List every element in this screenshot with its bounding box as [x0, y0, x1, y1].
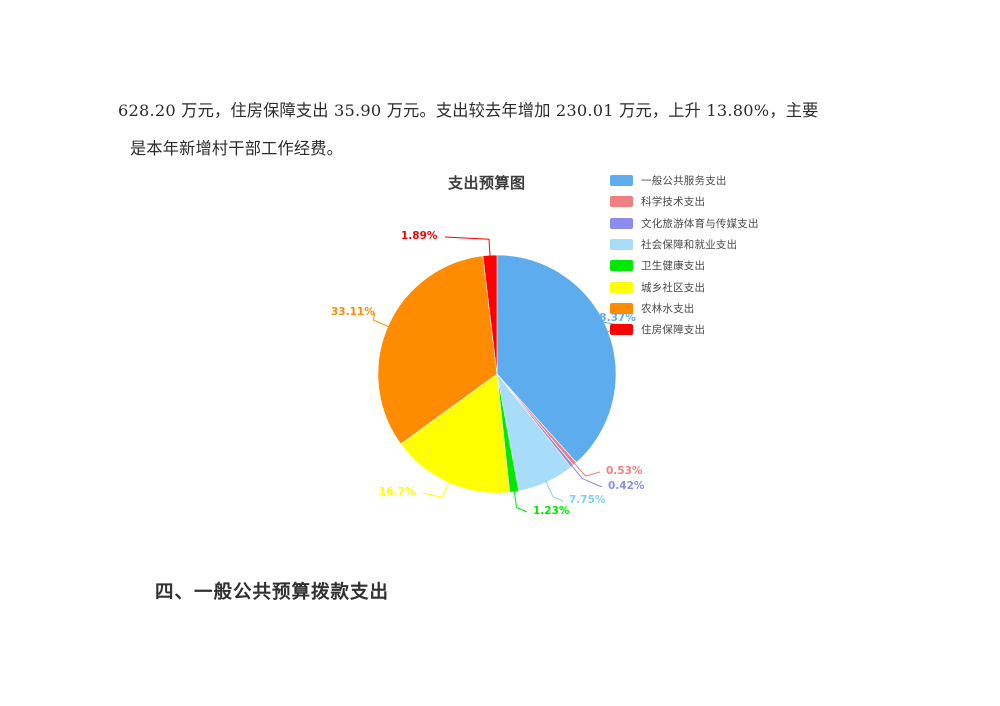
pie-value-label-2: 0.42%: [608, 480, 644, 492]
legend-label-7: 住房保障支出: [641, 322, 705, 337]
pie-value-label-6: 33.11%: [331, 306, 375, 318]
legend-swatch-icon-0: [610, 175, 633, 186]
legend-item-2[interactable]: 文化旅游体育与传媒支出: [610, 213, 800, 234]
legend-item-5[interactable]: 城乡社区支出: [610, 276, 800, 297]
pie-leader-line-6: [373, 313, 390, 327]
legend-swatch-icon-5: [610, 282, 633, 293]
paragraph-line-1: 628.20 万元，住房保障支出 35.90 万元。支出较去年增加 230.01…: [118, 92, 882, 130]
legend-label-1: 科学技术支出: [641, 194, 705, 209]
pie-leader-line-3: [546, 481, 564, 502]
legend-item-0[interactable]: 一般公共服务支出: [610, 170, 800, 191]
pie-leader-line-1: [574, 462, 600, 476]
legend-item-3[interactable]: 社会保障和就业支出: [610, 234, 800, 255]
legend-label-3: 社会保障和就业支出: [641, 237, 737, 252]
pie-value-label-4: 1.23%: [533, 505, 569, 517]
legend-label-6: 农林水支出: [641, 301, 695, 316]
pie-leader-line-4: [514, 490, 527, 512]
legend-swatch-icon-2: [610, 218, 633, 229]
pie-value-label-7: 1.89%: [401, 230, 437, 242]
legend-swatch-icon-7: [610, 324, 633, 335]
pie-value-label-3: 7.75%: [569, 494, 605, 506]
section-heading: 四、一般公共预算拨款支出: [155, 578, 389, 604]
legend-swatch-icon-1: [610, 196, 633, 207]
pie-leader-line-5: [423, 481, 450, 498]
legend-item-1[interactable]: 科学技术支出: [610, 191, 800, 212]
legend-item-6[interactable]: 农林水支出: [610, 298, 800, 319]
expenditure-pie-chart: 支出预算图 一般公共服务支出 科学技术支出 文化旅游体育与传媒支出: [330, 160, 800, 540]
pie-leader-line-7: [445, 237, 490, 257]
legend-label-2: 文化旅游体育与传媒支出: [641, 216, 759, 231]
pie-value-label-0: 38.37%: [592, 312, 636, 324]
legend-swatch-icon-3: [610, 239, 633, 250]
chart-legend: 一般公共服务支出 科学技术支出 文化旅游体育与传媒支出 社会保障和就业支出 卫生…: [610, 170, 800, 340]
pie-slices: [378, 255, 616, 493]
legend-swatch-icon-4: [610, 260, 633, 271]
pie-value-label-5: 16.7%: [379, 486, 415, 498]
pie-value-label-1: 0.53%: [606, 465, 642, 477]
legend-label-0: 一般公共服务支出: [641, 173, 727, 188]
legend-label-5: 城乡社区支出: [641, 280, 705, 295]
document-page: 628.20 万元，住房保障支出 35.90 万元。支出较去年增加 230.01…: [0, 0, 1000, 706]
legend-label-4: 卫生健康支出: [641, 258, 705, 273]
body-paragraph: 628.20 万元，住房保障支出 35.90 万元。支出较去年增加 230.01…: [118, 92, 882, 168]
legend-item-4[interactable]: 卫生健康支出: [610, 255, 800, 276]
legend-item-7[interactable]: 住房保障支出: [610, 319, 800, 340]
